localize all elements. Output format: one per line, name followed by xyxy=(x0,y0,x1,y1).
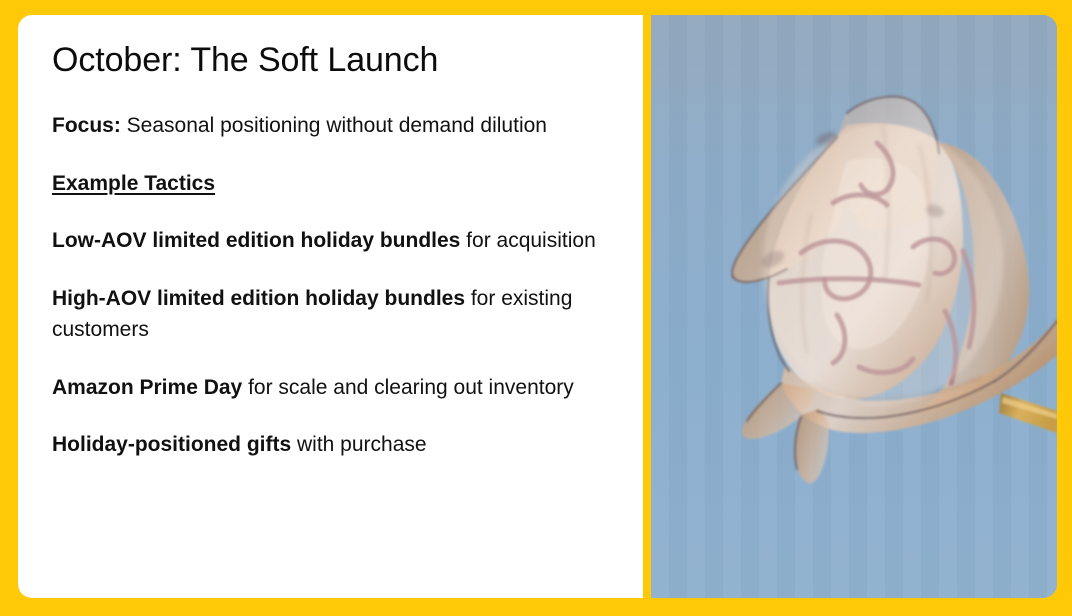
tactic-bold: High-AOV limited edition holiday bundles xyxy=(52,287,465,310)
tactic-bold: Low-AOV limited edition holiday bundles xyxy=(52,229,460,252)
tactic-rest: with purchase xyxy=(291,433,426,456)
section-heading: Example Tactics xyxy=(52,168,619,200)
card-inner: October: The Soft Launch Focus: Seasonal… xyxy=(18,15,643,461)
focus-line: Focus: Seasonal positioning without dema… xyxy=(52,110,612,142)
focus-label: Focus: xyxy=(52,114,121,137)
tactic-item: Low-AOV limited edition holiday bundles … xyxy=(52,225,612,257)
tactic-item: Holiday-positioned gifts with purchase xyxy=(52,429,612,461)
tactic-rest: for scale and clearing out inventory xyxy=(242,376,574,399)
slide-root: October: The Soft Launch Focus: Seasonal… xyxy=(0,0,1072,616)
focus-text: Seasonal positioning without demand dilu… xyxy=(121,114,547,137)
tactic-bold: Holiday-positioned gifts xyxy=(52,433,291,456)
page-title: October: The Soft Launch xyxy=(52,41,619,80)
silk-scarf-illustration xyxy=(651,15,1057,598)
scarf-glow xyxy=(763,125,1003,405)
tactic-rest: for acquisition xyxy=(460,229,595,252)
tactic-item: Amazon Prime Day for scale and clearing … xyxy=(52,372,612,404)
tactic-bold: Amazon Prime Day xyxy=(52,376,242,399)
tactic-item: High-AOV limited edition holiday bundles… xyxy=(52,283,612,346)
section-heading-label: Example Tactics xyxy=(52,172,215,195)
content-card: October: The Soft Launch Focus: Seasonal… xyxy=(18,15,643,598)
scarf-stick xyxy=(999,393,1057,433)
slide-photo xyxy=(651,15,1057,598)
